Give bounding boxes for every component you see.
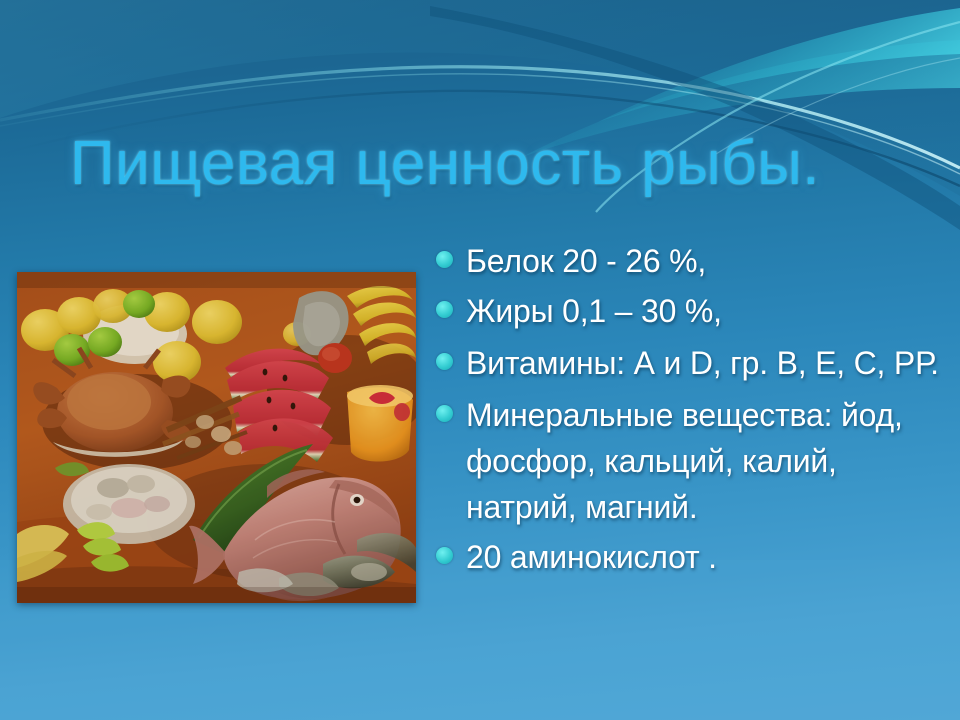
food-photo xyxy=(17,272,416,603)
list-item-label: Жиры 0,1 – 30 %, xyxy=(466,293,722,329)
food-photo-image xyxy=(17,272,416,603)
list-item: 20 аминокислот . xyxy=(428,534,948,580)
list-item: Жиры 0,1 – 30 %, xyxy=(428,288,948,334)
bullet-dot-icon xyxy=(436,405,453,422)
bullet-dot-icon xyxy=(436,547,453,564)
list-item: Витамины: А и D, гр. В, Е, С, РР. xyxy=(428,340,948,386)
bullet-dot-icon xyxy=(436,251,453,268)
bullet-dot-icon xyxy=(436,301,453,318)
list-item-label: Белок 20 - 26 %, xyxy=(466,243,706,279)
nutrition-bullet-list: Белок 20 - 26 %, Жиры 0,1 – 30 %, Витами… xyxy=(428,238,948,580)
page-title: Пищевая ценность рыбы. xyxy=(70,131,900,196)
list-item: Белок 20 - 26 %, xyxy=(428,238,948,284)
list-item-label: Минеральные вещества: йод, фосфор, кальц… xyxy=(466,397,903,525)
list-item-label: 20 аминокислот . xyxy=(466,539,717,575)
list-item: Минеральные вещества: йод, фосфор, кальц… xyxy=(428,392,948,530)
bullet-dot-icon xyxy=(436,353,453,370)
list-item-label: Витамины: А и D, гр. В, Е, С, РР. xyxy=(466,345,939,381)
slide-canvas: Пищевая ценность рыбы. xyxy=(0,0,960,720)
